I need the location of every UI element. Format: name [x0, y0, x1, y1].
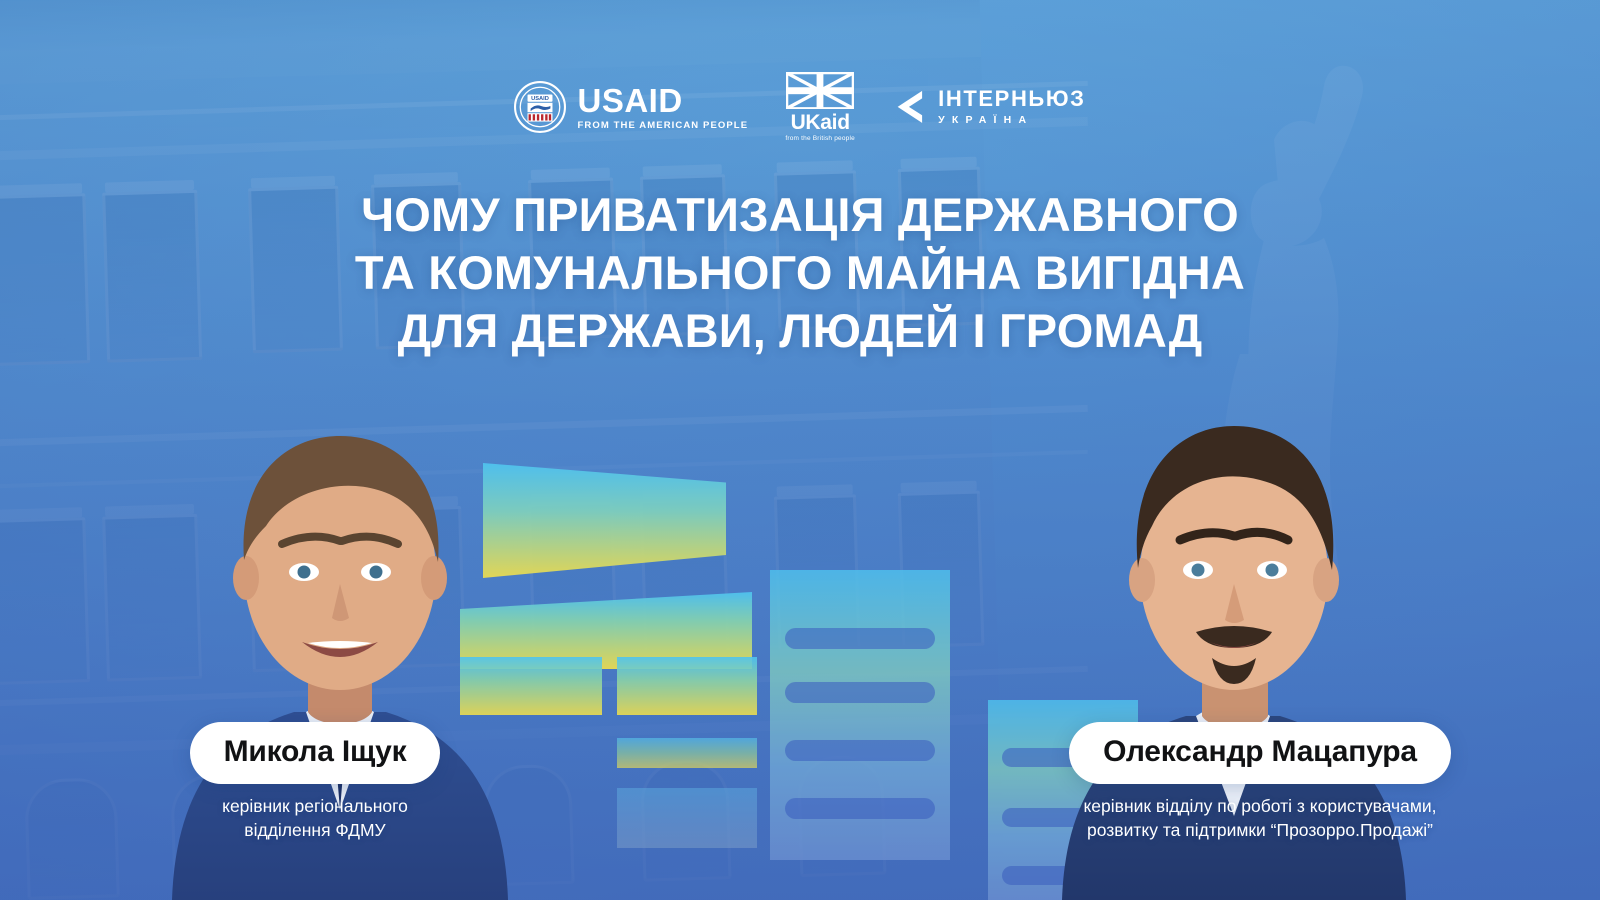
internews-wordmark: ІНТЕРНЬЮЗ УКРАЇНА [938, 88, 1085, 126]
usaid-wordmark: USAID FROM THE AMERICAN PEOPLE [577, 84, 748, 131]
ukaid-logo: UKaid from the British people [784, 72, 856, 142]
speaker-role-right: керівник відділу по роботі з користувача… [995, 795, 1525, 842]
decor-bar [617, 738, 757, 768]
title-line-1: ЧОМУ ПРИВАТИЗАЦІЯ ДЕРЖАВНОГО [0, 186, 1600, 244]
page-title: ЧОМУ ПРИВАТИЗАЦІЯ ДЕРЖАВНОГО ТА КОМУНАЛЬ… [0, 186, 1600, 359]
decor-bar [617, 657, 757, 715]
speaker-name-badge: Микола Іщук [190, 722, 441, 784]
ukaid-name: UKaid [784, 112, 856, 133]
speaker-info-left: Микола Іщук керівник регіонального відді… [90, 722, 540, 842]
sponsor-logo-bar: USAID USAID FROM THE AMERICA [0, 72, 1600, 142]
speaker-info-right: Олександр Мацапура керівник відділу по р… [995, 722, 1525, 842]
internews-subtitle: УКРАЇНА [938, 115, 1085, 126]
decor-document-card [770, 570, 950, 860]
svg-text:USAID: USAID [532, 96, 550, 102]
speaker-role-line: розвитку та підтримки “Прозорро.Продажі” [995, 819, 1525, 842]
speaker-name-badge: Олександр Мацапура [1069, 722, 1451, 784]
usaid-seal-icon: USAID [514, 81, 566, 133]
title-line-2: ТА КОМУНАЛЬНОГО МАЙНА ВИГІДНА [0, 244, 1600, 302]
internews-logo: ІНТЕРНЬЮЗ УКРАЇНА [892, 88, 1085, 126]
internews-name: ІНТЕРНЬЮЗ [938, 88, 1085, 110]
usaid-tagline: FROM THE AMERICAN PEOPLE [577, 121, 748, 131]
decor-bar [617, 788, 757, 848]
speaker-role-line: відділення ФДМУ [90, 819, 540, 842]
ukaid-tagline: from the British people [784, 135, 856, 142]
webinar-announcement-banner: USAID USAID FROM THE AMERICA [0, 0, 1600, 900]
union-jack-flag-icon [786, 72, 854, 109]
title-line-3: ДЛЯ ДЕРЖАВИ, ЛЮДЕЙ І ГРОМАД [0, 302, 1600, 360]
internews-chevron-icon [892, 88, 924, 126]
speaker-role-left: керівник регіонального відділення ФДМУ [90, 795, 540, 842]
speaker-role-line: керівник регіонального [90, 795, 540, 818]
usaid-name: USAID [577, 84, 748, 117]
speaker-role-line: керівник відділу по роботі з користувача… [995, 795, 1525, 818]
usaid-logo: USAID USAID FROM THE AMERICA [514, 81, 748, 133]
